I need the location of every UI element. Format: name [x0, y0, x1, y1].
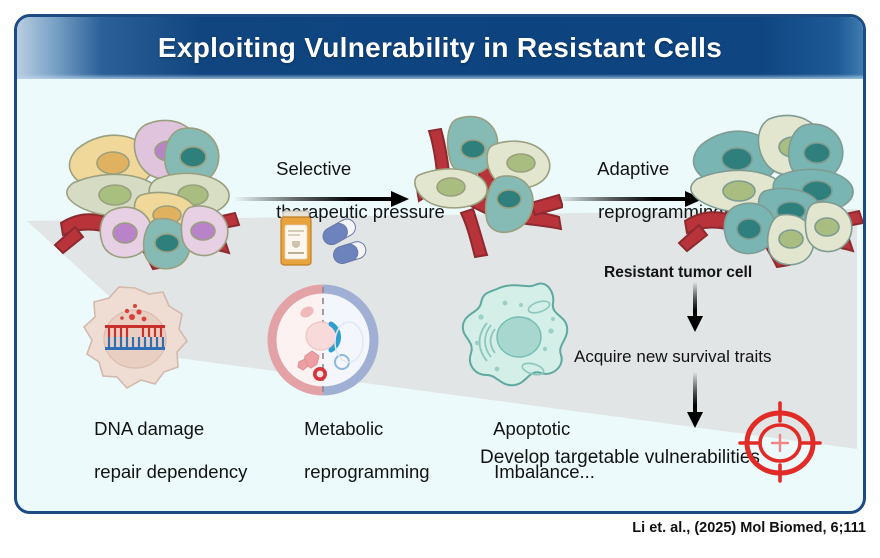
arrow-shaft: [233, 197, 393, 201]
mechanism-label-metabolic: Metabolic reprogramming: [263, 397, 430, 504]
cluster-residual-tumor: [413, 113, 563, 263]
crosshair-target-icon: [734, 399, 826, 488]
resistant-tumor-cell-caption: Resistant tumor cell: [604, 264, 752, 282]
arrow-head: [391, 191, 409, 207]
figure-root: Exploiting Vulnerability in Resistant Ce…: [0, 0, 880, 558]
figure-canvas: Selective therapeutic pressure: [17, 79, 863, 514]
cluster-resistant-tumor: [677, 103, 866, 273]
arrow-shaft: [693, 372, 697, 414]
figure-citation: Li et. al., (2025) Mol Biomed, 6;111: [632, 520, 866, 536]
dna-damage-cell-icon: [75, 284, 195, 401]
arrow-shaft: [693, 282, 697, 318]
acquire-survival-traits-label: Acquire new survival traits: [574, 347, 771, 366]
selective-pressure-arrow: [233, 191, 409, 207]
acquire-traits-arrow: [687, 282, 703, 332]
arrow-head: [687, 316, 703, 332]
develop-vulnerabilities-arrow: [687, 372, 703, 428]
figure-title-bar: Exploiting Vulnerability in Resistant Ce…: [17, 17, 863, 79]
metabolic-split-cell-icon: [265, 284, 381, 401]
arrow-head: [687, 412, 703, 428]
page-title: Exploiting Vulnerability in Resistant Ce…: [158, 32, 722, 64]
mechanism-label-dna-damage: DNA damage repair dependency: [53, 397, 247, 504]
arrow-shaft: [555, 197, 687, 201]
cluster-heterogeneous-tumor: [49, 101, 249, 271]
figure-panel: Exploiting Vulnerability in Resistant Ce…: [14, 14, 866, 514]
develop-targetable-vulnerabilities-label: Develop targetable vulnerabilities: [480, 447, 760, 469]
apoptotic-cell-icon: [457, 281, 577, 398]
pill-bottle-icon: [275, 207, 385, 274]
